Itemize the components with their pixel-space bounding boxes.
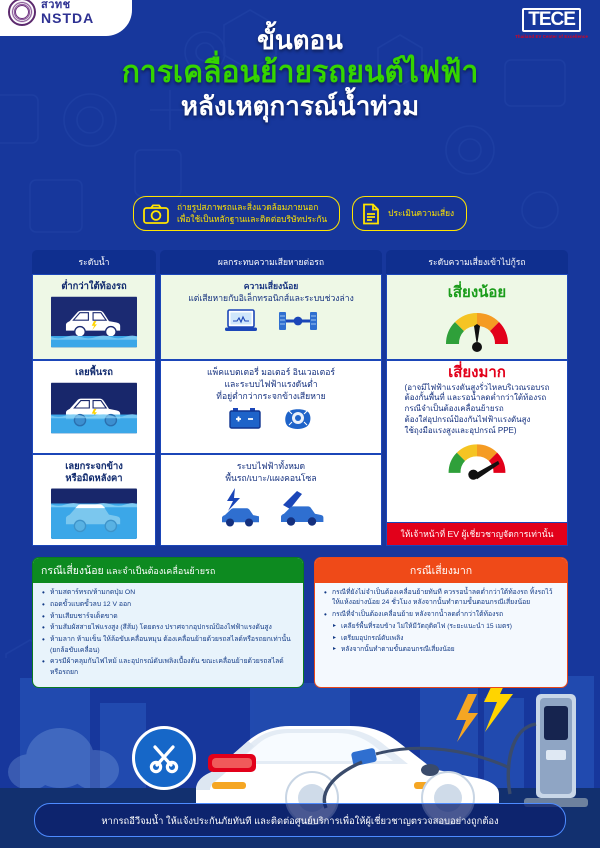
risk-high-label: เสี่ยงมาก	[448, 365, 506, 382]
matrix-header-row: ระดับน้ำ ผลกระทบความเสียหายต่อรถ ระดับคว…	[32, 250, 568, 274]
car-hood-open-icon	[277, 489, 325, 527]
nstda-logo-latin: NSTDA	[41, 11, 94, 25]
matrix-column-damage: ความเสี่ยงน้อย แต่เสียหายกับอิเล็กทรอนิก…	[160, 274, 382, 546]
panel-low-risk-list: ห้ามสตาร์ทรถ/ห้ามกดปุ่ม ON ถอดขั้วแบตขั้…	[41, 588, 295, 678]
list-item: กรณีที่ยังไม่จำเป็นต้องเคลื่อนย้ายทันที …	[323, 588, 559, 609]
camera-icon	[143, 204, 169, 224]
panel-high-risk-title: กรณีเสี่ยงมาก	[410, 565, 472, 577]
matrix-header-risk: ระดับความเสี่ยงเข้าไปกู้รถ	[386, 250, 568, 274]
risk-high-note-1: (อาจมีไฟฟ้าแรงดันสูงรั่วไหลบริเวณรอบรถ	[405, 383, 550, 392]
matrix-cell-level-3: เลยกระจกข้าง หรือมิดหลังคา	[32, 454, 156, 546]
badge-row: ถ่ายรูปสภาพรถและสิ่งแวดล้อมภายนอก เพื่อใ…	[0, 196, 600, 231]
service-tools-badge	[132, 726, 196, 790]
risk-high-cell: เสี่ยงมาก (อาจมีไฟฟ้าแรงดันสูงรั่วไหลบริ…	[386, 360, 568, 523]
footer-callout: หากรถอีวีจมน้ำ ให้แจ้งประกันภัยทันที และ…	[34, 803, 566, 837]
badge-photo-line-1: ถ่ายรูปสภาพรถและสิ่งแวดล้อมภายนอก	[177, 202, 318, 212]
risk-low-cell: เสี่ยงน้อย	[386, 274, 568, 360]
matrix-cell-damage-2: แพ็คแบตเตอรี่ มอเตอร์ อินเวอเตอร์ และระบ…	[160, 360, 382, 454]
damage-2-line-2: และระบบไฟฟ้าแรงดันต่ำ	[224, 378, 317, 390]
level-1-label: ต่ำกว่าใต้ท้องรถ	[61, 280, 126, 292]
gauge-high-icon	[440, 438, 514, 482]
motor-icon	[283, 405, 313, 431]
matrix-cell-damage-1: ความเสี่ยงน้อย แต่เสียหายกับอิเล็กทรอนิก…	[160, 274, 382, 360]
level-3-label: เลยกระจกข้าง หรือมิดหลังคา	[65, 460, 123, 484]
matrix-cell-level-2: เลยพื้นรถ	[32, 360, 156, 454]
list-item: ห้ามสตาร์ทรถ/ห้ามกดปุ่ม ON	[41, 588, 295, 598]
list-item: เคลียร์พื้นที่รอบข้าง ไม่ให้มีวัตถุติดไฟ…	[323, 622, 559, 632]
risk-matrix: ระดับน้ำ ผลกระทบความเสียหายต่อรถ ระดับคว…	[32, 250, 568, 546]
panel-high-risk-header: กรณีเสี่ยงมาก	[315, 558, 567, 583]
damage-3-line-1: ระบบไฟฟ้าทั้งหมด	[237, 460, 305, 472]
risk-high-note-2: ต้องกั้นพื้นที่ และรอน้ำลดต่ำกว่าใต้ท้อง…	[405, 393, 547, 402]
car-shock-icon	[217, 487, 259, 527]
document-icon	[362, 203, 380, 225]
nstda-logo-thai: สวทช	[41, 0, 94, 11]
level-3-label-line-1: เลยกระจกข้าง	[65, 460, 123, 471]
list-item: หลังจากนั้นทำตามขั้นตอนกรณีเสี่ยงน้อย	[323, 645, 559, 655]
list-item: เตรียมอุปกรณ์ดับเพลิง	[323, 634, 559, 644]
damage-1-line-1: ความเสี่ยงน้อย	[244, 280, 299, 292]
title-line-1: ขั้นตอน	[0, 26, 600, 55]
list-item: ห้ามลาก ห้ามเข็น ให้ล้อขับเคลื่อนหมุน ต้…	[41, 635, 295, 656]
matrix-column-risk: เสี่ยงน้อย เสี่ยงมาก (อาจมีไฟฟ้าแรงดันสู…	[386, 274, 568, 546]
car-water-below-floor-icon	[51, 296, 137, 348]
level-3-label-line-2: หรือมิดหลังคา	[65, 472, 122, 483]
panel-low-risk-title-strong: กรณีเสี่ยงน้อย	[41, 565, 104, 577]
footer-text: หากรถอีวีจมน้ำ ให้แจ้งประกันภัยทันที และ…	[101, 815, 498, 826]
laptop-diagnostic-icon	[224, 308, 258, 334]
matrix-column-water-level: ต่ำกว่าใต้ท้องรถ	[32, 274, 156, 546]
title-line-3: หลังเหตุการณ์น้ำท่วม	[0, 91, 600, 122]
car-water-above-floor-icon	[51, 382, 137, 434]
level-2-label: เลยพื้นรถ	[75, 366, 113, 378]
matrix-cell-level-1: ต่ำกว่าใต้ท้องรถ	[32, 274, 156, 360]
matrix-cell-damage-3: ระบบไฟฟ้าทั้งหมด พื้นรถ/เบาะ/แผงคอนโซล	[160, 454, 382, 546]
panel-low-risk-header: กรณีเสี่ยงน้อย และจำเป็นต้องเคลื่อนย้ายร…	[33, 558, 303, 583]
gauge-low-icon	[440, 306, 514, 354]
matrix-header-damage: ผลกระทบความเสียหายต่อรถ	[160, 250, 382, 274]
damage-2-line-1: แพ็คแบตเตอรี่ มอเตอร์ อินเวอเตอร์	[207, 366, 335, 378]
panel-high-risk: กรณีเสี่ยงมาก กรณีที่ยังไม่จำเป็นต้องเคล…	[314, 557, 568, 688]
panel-high-risk-list: กรณีที่ยังไม่จำเป็นต้องเคลื่อนย้ายทันที …	[323, 588, 559, 655]
page-title: ขั้นตอน การเคลื่อนย้ายรถยนต์ไฟฟ้า หลังเห…	[0, 26, 600, 122]
guidance-panels: กรณีเสี่ยงน้อย และจำเป็นต้องเคลื่อนย้ายร…	[32, 557, 568, 688]
badge-risk-assess: ประเมินความเสี่ยง	[352, 196, 467, 231]
panel-low-risk: กรณีเสี่ยงน้อย และจำเป็นต้องเคลื่อนย้ายร…	[32, 557, 304, 688]
damage-1-line-2: แต่เสียหายกับอิเล็กทรอนิกส์และระบบช่วงล่…	[188, 292, 354, 304]
panel-high-risk-body: กรณีที่ยังไม่จำเป็นต้องเคลื่อนย้ายทันที …	[315, 583, 567, 664]
wrench-screwdriver-icon	[146, 740, 182, 776]
matrix-header-water-level: ระดับน้ำ	[32, 250, 156, 274]
badge-risk-assess-label: ประเมินความเสี่ยง	[388, 208, 454, 218]
badge-photo-line-2: เพื่อใช้เป็นหลักฐานและติดต่อบริษัทประกัน	[177, 214, 327, 224]
list-item: ควรมีผ้าคลุมกันไฟไหม้ และอุปกรณ์ดับเพลิง…	[41, 657, 295, 678]
nstda-seal-icon	[8, 0, 36, 26]
infographic-page: สวทช NSTDA TECE Thailand EV Center of Ex…	[0, 0, 600, 848]
damage-3-line-2: พื้นรถ/เบาะ/แผงคอนโซล	[225, 472, 316, 484]
list-item: ห้ามสัมผัสสายไฟแรงสูง (สีส้ม) โดยตรง ปรา…	[41, 623, 295, 633]
damage-2-line-3: ที่อยู่ต่ำกว่ากระจกข้างเสียหาย	[216, 390, 325, 402]
panel-low-risk-body: ห้ามสตาร์ทรถ/ห้ามกดปุ่ม ON ถอดขั้วแบตขั้…	[33, 583, 303, 687]
title-line-2: การเคลื่อนย้ายรถยนต์ไฟฟ้า	[0, 55, 600, 91]
list-item: ห้ามเสียบชาร์จเด็ดขาด	[41, 612, 295, 622]
panel-low-risk-title-light: และจำเป็นต้องเคลื่อนย้ายรถ	[104, 566, 216, 576]
risk-high-note-4: ต้องใส่อุปกรณ์ป้องกันไฟฟ้าแรงดันสูง	[405, 415, 531, 424]
badge-photo: ถ่ายรูปสภาพรถและสิ่งแวดล้อมภายนอก เพื่อใ…	[133, 196, 340, 231]
risk-low-label: เสี่ยงน้อย	[448, 280, 506, 304]
risk-high-note: (อาจมีไฟฟ้าแรงดันสูงรั่วไหลบริเวณรอบรถ ต…	[405, 383, 550, 437]
risk-high-strip: ให้เจ้าหน้าที่ EV ผู้เชี่ยวชาญจัดการเท่า…	[386, 523, 568, 546]
car-submerged-icon	[51, 488, 137, 540]
suspension-axle-icon	[278, 310, 318, 332]
list-item: ถอดขั้วแบตขั้วลบ 12 V ออก	[41, 600, 295, 610]
battery-icon	[229, 405, 261, 431]
list-item: กรณีที่จำเป็นต้องเคลื่อนย้าย หลังจากน้ำล…	[323, 610, 559, 620]
risk-high-note-5: ใช้ถุงมือแรงสูงและอุปกรณ์ PPE)	[405, 426, 517, 435]
risk-high-note-3: กรณีจำเป็นต้องเคลื่อนย้ายรถ	[405, 404, 504, 413]
